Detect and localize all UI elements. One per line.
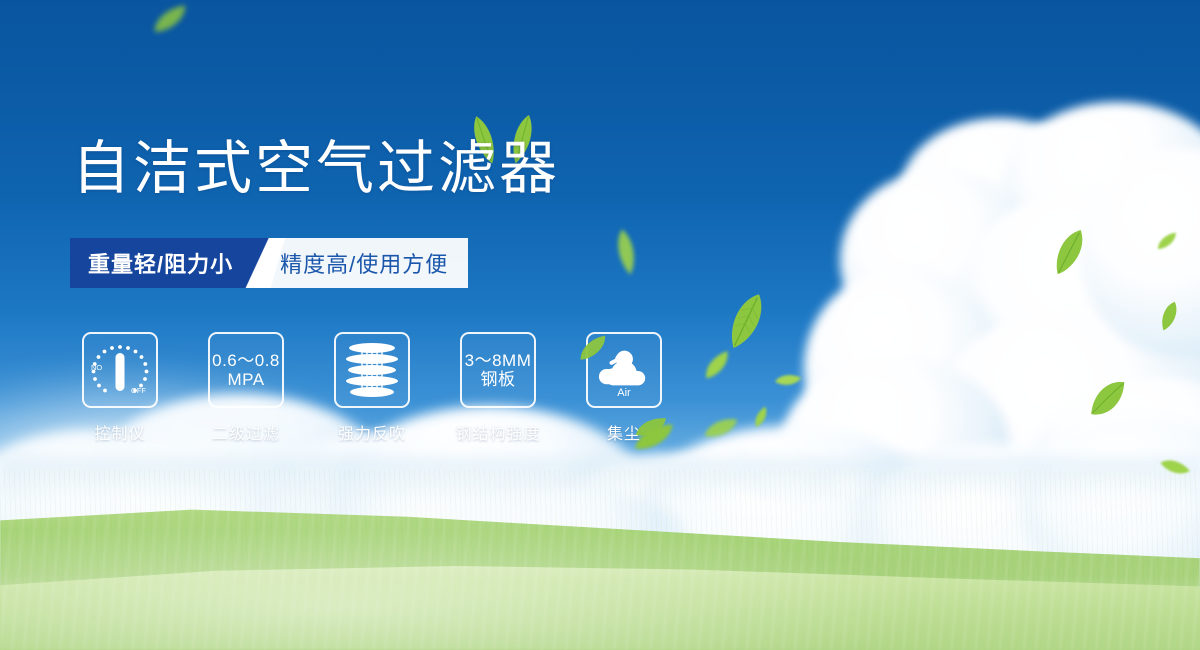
- feature-label: 钢结构强度: [455, 420, 540, 444]
- steel-plate-icon: 3～8MM 钢板: [465, 351, 532, 389]
- pressure-value-icon: 0.6～0.8 MPA: [212, 351, 280, 389]
- dial-on-label: NO: [91, 363, 102, 372]
- pressure-unit: MPA: [212, 370, 280, 389]
- subtitle-left: 重量轻/阻力小: [70, 238, 253, 288]
- subtitle-right: 精度高/使用方便: [268, 238, 468, 288]
- feature-label: 强力反吹: [338, 420, 406, 444]
- page-title: 自洁式空气过滤器: [72, 140, 560, 198]
- feature-icon-box: [334, 332, 410, 408]
- dial-off-label: OFF: [131, 386, 146, 395]
- air-label: Air: [617, 387, 631, 399]
- feature-item[interactable]: 0.6～0.8 MPA 二级过滤: [196, 332, 296, 444]
- feature-icon-box: 0.6～0.8 MPA: [208, 332, 284, 408]
- feature-item[interactable]: NO OFF 控制仪: [70, 332, 170, 444]
- pressure-range: 0.6～0.8: [212, 351, 280, 370]
- feature-label: 二级过滤: [212, 420, 280, 444]
- cloud-air-icon: Air: [593, 341, 655, 399]
- feature-list: NO OFF 控制仪 0.6～0.8 MPA 二级过滤: [70, 332, 674, 444]
- feature-icon-box: Air: [586, 332, 662, 408]
- feature-item[interactable]: Air 集尘: [574, 332, 674, 444]
- feature-icon-box: NO OFF: [82, 332, 158, 408]
- feature-icon-box: 3～8MM 钢板: [460, 332, 536, 408]
- promo-banner: 自洁式空气过滤器 重量轻/阻力小 精度高/使用方便: [0, 0, 1200, 650]
- filter-cartridge-icon: [343, 340, 401, 400]
- plate-thickness: 3～8MM: [465, 351, 532, 370]
- feature-item[interactable]: 强力反吹: [322, 332, 422, 444]
- gauge-dial-icon: NO OFF: [87, 339, 153, 401]
- feature-label: 控制仪: [94, 420, 145, 444]
- feature-label: 集尘: [607, 420, 641, 444]
- feature-item[interactable]: 3～8MM 钢板 钢结构强度: [448, 332, 548, 444]
- plate-material: 钢板: [465, 370, 532, 389]
- banner-content: 自洁式空气过滤器 重量轻/阻力小 精度高/使用方便: [0, 0, 1200, 650]
- subtitle-ribbon: 重量轻/阻力小 精度高/使用方便: [70, 238, 468, 288]
